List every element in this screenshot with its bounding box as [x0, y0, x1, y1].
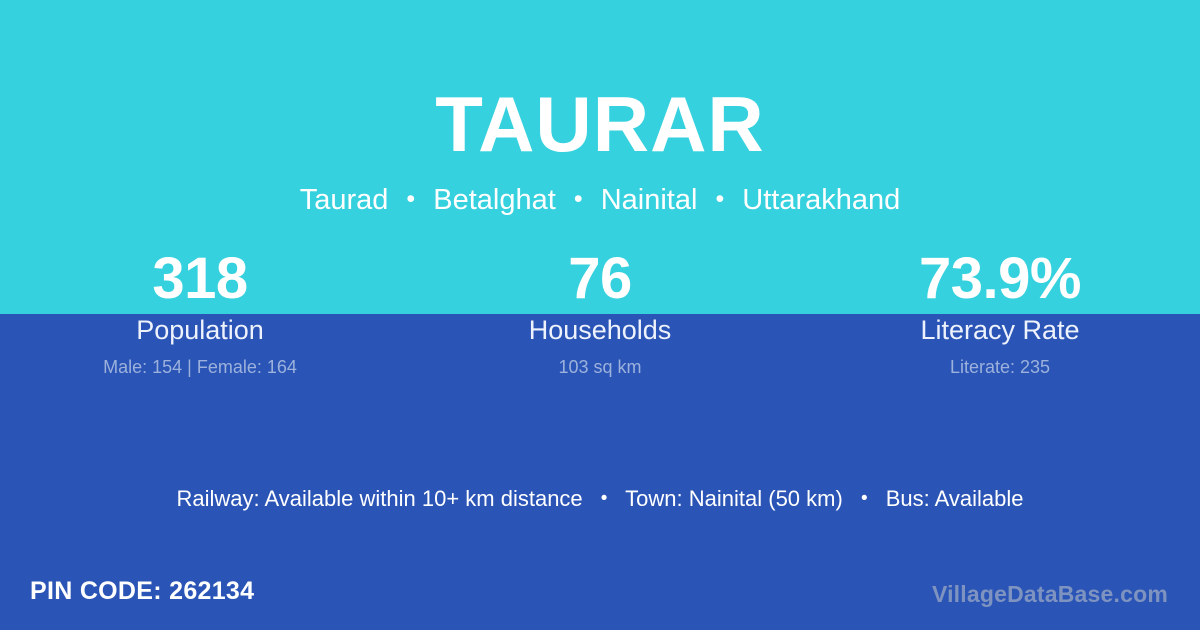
statistics-row: 318 Population Male: 154 | Female: 164 7… [0, 246, 1200, 379]
infrastructure-town: Town: Nainital (50 km) [625, 486, 843, 511]
breadcrumb-part-taurad: Taurad [300, 184, 389, 216]
location-breadcrumb: Taurad • Betalghat • Nainital • Uttarakh… [0, 181, 1200, 220]
bullet-separator-icon: • [705, 185, 734, 213]
bullet-separator-icon: • [396, 185, 425, 213]
stat-literacy-rate-label: Literacy Rate [800, 314, 1200, 347]
stat-literacy-rate-value: 73.9% [800, 246, 1200, 312]
stat-population-sub: Male: 154 | Female: 164 [0, 356, 400, 379]
stat-households-sub: 103 sq km [400, 356, 800, 379]
bullet-separator-icon: • [589, 488, 620, 509]
infrastructure-bus: Bus: Available [886, 486, 1024, 511]
stat-population-label: Population [0, 314, 400, 347]
stat-households-value: 76 [400, 246, 800, 312]
brand-watermark: VillageDataBase.com [932, 579, 1168, 609]
bullet-separator-icon: • [564, 185, 593, 213]
stat-population: 318 Population Male: 154 | Female: 164 [0, 246, 400, 379]
breadcrumb-part-betalghat: Betalghat [433, 184, 556, 216]
stat-literacy-rate: 73.9% Literacy Rate Literate: 235 [800, 246, 1200, 379]
infrastructure-railway: Railway: Available within 10+ km distanc… [176, 486, 582, 511]
village-info-card: TAURAR Taurad • Betalghat • Nainital • U… [0, 0, 1200, 630]
stat-households: 76 Households 103 sq km [400, 246, 800, 379]
bullet-separator-icon: • [849, 488, 880, 509]
pin-code-label: PIN CODE: 262134 [30, 575, 254, 607]
stat-households-label: Households [400, 314, 800, 347]
infrastructure-line: Railway: Available within 10+ km distanc… [0, 484, 1200, 516]
stat-literacy-rate-sub: Literate: 235 [800, 356, 1200, 379]
village-title: TAURAR [0, 78, 1200, 170]
breadcrumb-part-uttarakhand: Uttarakhand [742, 184, 900, 216]
stat-population-value: 318 [0, 246, 400, 312]
breadcrumb-part-nainital: Nainital [601, 184, 698, 216]
